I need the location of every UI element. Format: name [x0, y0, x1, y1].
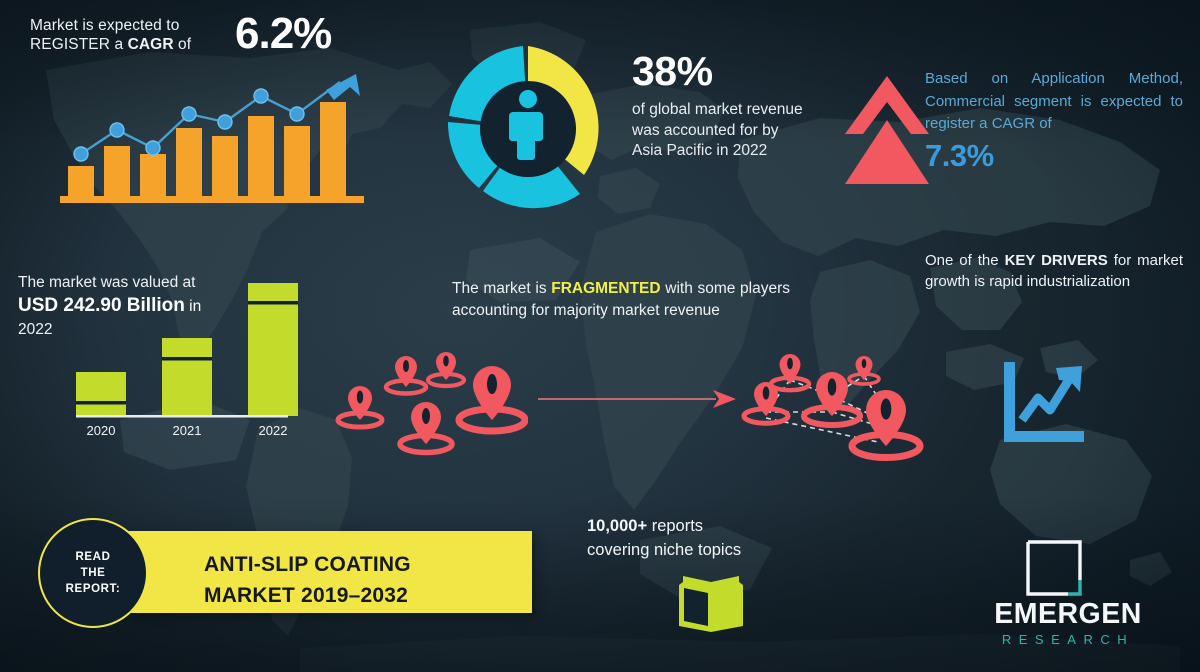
- logo-wordmark: EMERGEN: [968, 598, 1168, 631]
- green-chart-tick-2020: 2020: [87, 423, 116, 438]
- key-drivers-block: One of the KEY DRIVERS for market growth…: [925, 250, 1183, 292]
- share-stat-description: of global market revenue was accounted f…: [632, 100, 812, 162]
- double-up-triangle-icon: [843, 72, 931, 190]
- key-drivers-text: One of the KEY DRIVERS for market growth…: [925, 250, 1183, 292]
- cagr-headline-keyword: CAGR: [128, 36, 174, 53]
- report-title-line2: MARKET 2019–2032: [204, 580, 524, 611]
- green-chart-tick-2022: 2022: [259, 423, 288, 438]
- fragmented-highlight: FRAGMENTED: [551, 280, 660, 297]
- growth-arrow-chart-icon: [996, 358, 1088, 450]
- fragmented-market-block: The market is FRAGMENTED with some playe…: [452, 278, 790, 321]
- read-label-line3: REPORT:: [66, 581, 121, 597]
- right-arrow-icon: [538, 386, 738, 412]
- fragmented-pre: The market is: [452, 280, 551, 297]
- yearly-value-bar-chart: 2020 2021 2022: [62, 275, 302, 440]
- reports-count-block: 10,000+ reports covering niche topics: [587, 514, 807, 562]
- application-method-value: 7.3%: [925, 138, 1183, 174]
- report-title: ANTI-SLIP COATING MARKET 2019–2032: [204, 549, 524, 611]
- connected-location-pins: [736, 350, 928, 462]
- key-drivers-highlight: KEY DRIVERS: [1005, 252, 1108, 269]
- application-method-block: Based on Application Method, Commercial …: [925, 68, 1183, 174]
- report-title-line1: ANTI-SLIP COATING: [204, 549, 524, 580]
- read-the-report-label: READ THE REPORT:: [66, 549, 121, 597]
- cagr-headline-text: Market is expected to REGISTER a CAGR of: [30, 16, 230, 54]
- open-book-icon: [675, 568, 747, 632]
- reports-count-line2: covering niche topics: [587, 541, 741, 559]
- cagr-headline-block: Market is expected to REGISTER a CAGR of…: [30, 14, 390, 66]
- reports-count-value: 10,000+: [587, 517, 647, 535]
- infographic-canvas: Market is expected to REGISTER a CAGR of…: [0, 0, 1200, 672]
- report-title-banner[interactable]: ANTI-SLIP COATING MARKET 2019–2032: [128, 531, 532, 613]
- scattered-location-pins: [332, 352, 528, 458]
- read-the-report-button[interactable]: READ THE REPORT:: [38, 518, 148, 628]
- read-the-report-banner[interactable]: ANTI-SLIP COATING MARKET 2019–2032 READ …: [38, 518, 532, 628]
- emergen-square-mark-icon: [1026, 540, 1082, 596]
- reports-count-text: 10,000+ reports covering niche topics: [587, 514, 807, 562]
- logo-subtitle: RESEARCH: [968, 632, 1168, 647]
- bar-line-growth-chart-icon: [60, 70, 372, 205]
- cagr-headline-line1: Market is expected to: [30, 17, 179, 34]
- read-label-line2: THE: [66, 565, 121, 581]
- cagr-headline-line2-a: REGISTER a: [30, 36, 128, 53]
- cagr-headline-line2-c: of: [174, 36, 192, 53]
- emergen-research-logo: EMERGEN RESEARCH: [968, 540, 1168, 664]
- read-label-line1: READ: [66, 549, 121, 565]
- cagr-value: 6.2%: [235, 9, 331, 59]
- share-stat-value: 38%: [632, 48, 812, 94]
- application-method-text: Based on Application Method, Commercial …: [925, 68, 1183, 136]
- reports-count-tail: reports: [647, 517, 703, 535]
- share-stat-block: 38% of global market revenue was account…: [632, 48, 812, 162]
- fragmented-market-text: The market is FRAGMENTED with some playe…: [452, 278, 790, 321]
- green-chart-tick-2021: 2021: [173, 423, 202, 438]
- key-drivers-pre: One of the: [925, 252, 1005, 269]
- donut-chart-person-icon: [438, 38, 618, 220]
